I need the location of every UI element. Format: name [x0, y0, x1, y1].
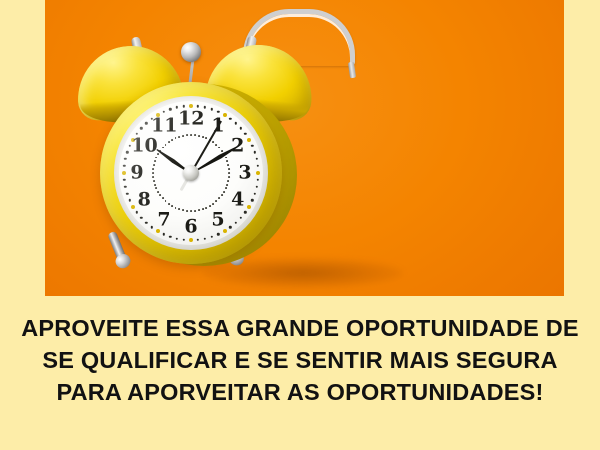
clock-body: 121234567891011	[100, 82, 282, 264]
clock-numeral-4: 4	[225, 191, 251, 210]
clock-tick-minor	[255, 186, 257, 188]
caption-line-1: APROVEITE ESSA GRANDE OPORTUNIDADE DE	[0, 312, 600, 344]
clock-inner-ring-dot	[165, 144, 167, 146]
clock-tick-minor	[140, 217, 142, 219]
clock-inner-ring-dot	[168, 203, 170, 205]
clock-inner-ring-dot	[165, 200, 167, 202]
clock-numeral-3: 3	[232, 164, 258, 183]
clock-inner-ring-dot	[218, 147, 220, 149]
clock-inner-ring-dot	[202, 136, 204, 138]
clock-inner-ring-dot	[225, 188, 227, 190]
clock-tick-major	[189, 238, 193, 242]
clock-inner-ring-dot	[154, 184, 156, 186]
bell-hammer-icon	[181, 42, 201, 62]
clock-tick-minor	[217, 233, 219, 235]
clock-tick-minor	[244, 211, 246, 213]
clock-inner-ring-dot	[227, 164, 229, 166]
clock-inner-ring-dot	[162, 197, 164, 199]
clock-tick-minor	[240, 217, 242, 219]
clock-numeral-11: 11	[151, 117, 177, 136]
clock-inner-ring-dot	[152, 168, 154, 170]
clock-inner-ring-dot	[228, 176, 230, 178]
clock-tick-minor	[251, 145, 253, 147]
clock-tick-minor	[211, 236, 213, 238]
clock-inner-ring-dot	[212, 141, 214, 143]
clock-inner-ring-dot	[206, 207, 208, 209]
clock-inner-ring-dot	[206, 137, 208, 139]
clock-inner-ring-dot	[221, 194, 223, 196]
clock-inner-ring-dot	[178, 208, 180, 210]
clock-inner-ring-dot	[186, 134, 188, 136]
clock-inner-ring-dot	[155, 188, 157, 190]
clock-inner-ring-dot	[198, 209, 200, 211]
hero-panel: 121234567891011	[45, 0, 564, 296]
clock-inner-ring-dot	[225, 157, 227, 159]
clock-tick-minor	[235, 122, 237, 124]
clock-inner-ring-dot	[159, 194, 161, 196]
clock-face: 121234567891011	[119, 101, 263, 245]
caption-block: APROVEITE ESSA GRANDE OPORTUNIDADE DE SE…	[0, 312, 600, 408]
clock-inner-ring-dot	[212, 203, 214, 205]
clock-numeral-5: 5	[205, 210, 231, 229]
clock-inner-ring-dot	[175, 207, 177, 209]
clock-tick-minor	[244, 132, 246, 134]
clock-inner-ring-dot	[155, 157, 157, 159]
clock-inner-ring-dot	[228, 168, 230, 170]
clock-inner-ring-dot	[190, 210, 192, 212]
clock-tick-minor	[163, 233, 165, 235]
clock-inner-ring-dot	[215, 200, 217, 202]
clock-tick-minor	[211, 108, 213, 110]
clock-inner-ring-dot	[154, 160, 156, 162]
clock-inner-ring-dot	[227, 180, 229, 182]
clock-bezel: 121234567891011	[114, 96, 268, 250]
clock-tick-minor	[163, 111, 165, 113]
clock-tick-minor	[124, 158, 126, 160]
clock-inner-ring-dot	[228, 172, 230, 174]
clock-tick-minor	[183, 238, 185, 240]
clock-tick-minor	[126, 193, 128, 195]
clock-inner-ring-dot	[168, 141, 170, 143]
clock-tick-minor	[126, 151, 128, 153]
clock-inner-ring-dot	[162, 147, 164, 149]
clock-inner-ring-dot	[221, 150, 223, 152]
clock-center-hub	[183, 165, 199, 181]
clock-tick-minor	[254, 193, 256, 195]
clock-tick-minor	[255, 158, 257, 160]
clock-tick-minor	[145, 222, 147, 224]
clock-tick-minor	[145, 122, 147, 124]
clock-tick-minor	[235, 222, 237, 224]
clock-inner-ring-dot	[157, 191, 159, 193]
clock-inner-ring-dot	[194, 210, 196, 212]
clock-inner-ring-dot	[226, 184, 228, 186]
clock-inner-ring-dot	[202, 208, 204, 210]
clock-numeral-12: 12	[178, 110, 204, 129]
clock-numeral-9: 9	[124, 164, 150, 183]
clock-numeral-10: 10	[131, 137, 157, 156]
clock-inner-ring-dot	[152, 176, 154, 178]
clock-tick-minor	[251, 199, 253, 201]
clock-inner-ring-dot	[209, 205, 211, 207]
caption-line-2: SE QUALIFICAR E SE SENTIR MAIS SEGURA	[0, 344, 600, 376]
clock-tick-minor	[254, 151, 256, 153]
clock-tick-minor	[176, 237, 178, 239]
clock-inner-ring-dot	[157, 153, 159, 155]
clock-inner-ring-dot	[171, 139, 173, 141]
clock-tick-minor	[169, 236, 171, 238]
clock-inner-ring-dot	[171, 205, 173, 207]
clock-tick-minor	[204, 106, 206, 108]
clock-tick-minor	[169, 108, 171, 110]
clock-numeral-8: 8	[131, 191, 157, 210]
clock-tick-minor	[124, 186, 126, 188]
clock-numeral-7: 7	[151, 210, 177, 229]
clock-inner-ring-dot	[226, 160, 228, 162]
clock-inner-ring-dot	[153, 164, 155, 166]
clock-tick-minor	[240, 127, 242, 129]
clock-inner-ring-dot	[186, 210, 188, 212]
clock-inner-ring-dot	[190, 134, 192, 136]
clock-tick-minor	[204, 237, 206, 239]
clock-inner-ring-dot	[152, 172, 154, 174]
clock-inner-ring-dot	[182, 209, 184, 211]
clock-inner-ring-dot	[198, 135, 200, 137]
clock-tick-minor	[197, 238, 199, 240]
clock-inner-ring-dot	[182, 135, 184, 137]
clock-tick-minor	[217, 111, 219, 113]
caption-line-3: PARA APORVEITAR AS OPORTUNIDADES!	[0, 376, 600, 408]
clock-inner-ring-dot	[175, 137, 177, 139]
alarm-clock-illustration: 121234567891011	[45, 0, 564, 296]
promo-poster: 121234567891011 APROVEITE ESSA GRANDE OP…	[0, 0, 600, 450]
clock-tick-minor	[140, 127, 142, 129]
clock-inner-ring-dot	[194, 134, 196, 136]
clock-numeral-6: 6	[178, 218, 204, 237]
clock-tick-minor	[136, 211, 138, 213]
clock-inner-ring-dot	[215, 144, 217, 146]
clock-inner-ring-dot	[178, 136, 180, 138]
clock-inner-ring-dot	[218, 197, 220, 199]
clock-inner-ring-dot	[153, 180, 155, 182]
